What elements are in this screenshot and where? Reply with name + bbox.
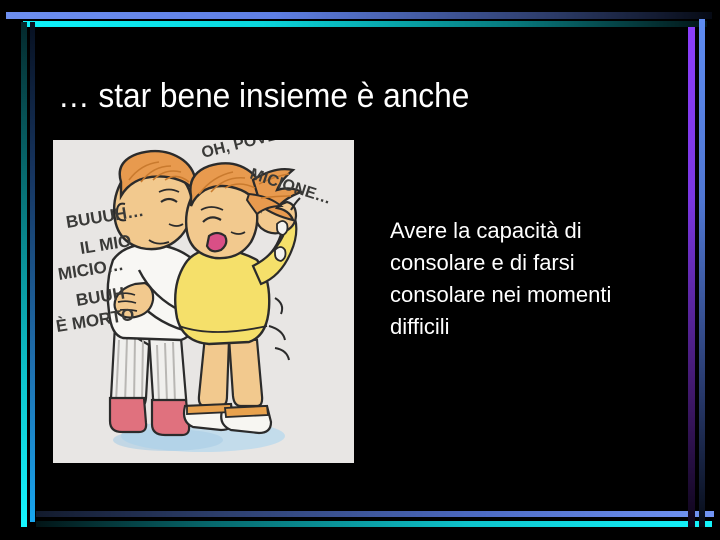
top-blue-ribbon: [6, 12, 712, 19]
bottom-cyan-ribbon: [36, 521, 712, 527]
top-cyan-ribbon: [23, 21, 707, 27]
right-purple-ribbon: [688, 27, 695, 527]
bottom-blue-ribbon: [36, 511, 714, 517]
right-blue-ribbon: [699, 19, 705, 527]
hugging-children-drawing: BUUUH… IL MIO MICIO… BUUH È MORTO OH, PO…: [53, 140, 354, 463]
illustration-image: BUUUH… IL MIO MICIO… BUUH È MORTO OH, PO…: [53, 140, 354, 463]
left-blue-ribbon: [30, 22, 35, 522]
presentation-slide: … star bene insieme è anche Avere la cap…: [0, 0, 720, 540]
left-cyan-ribbon: [21, 22, 27, 527]
slide-body-text: Avere la capacità di consolare e di fars…: [390, 215, 660, 343]
slide-title: … star bene insieme è anche: [58, 76, 616, 116]
